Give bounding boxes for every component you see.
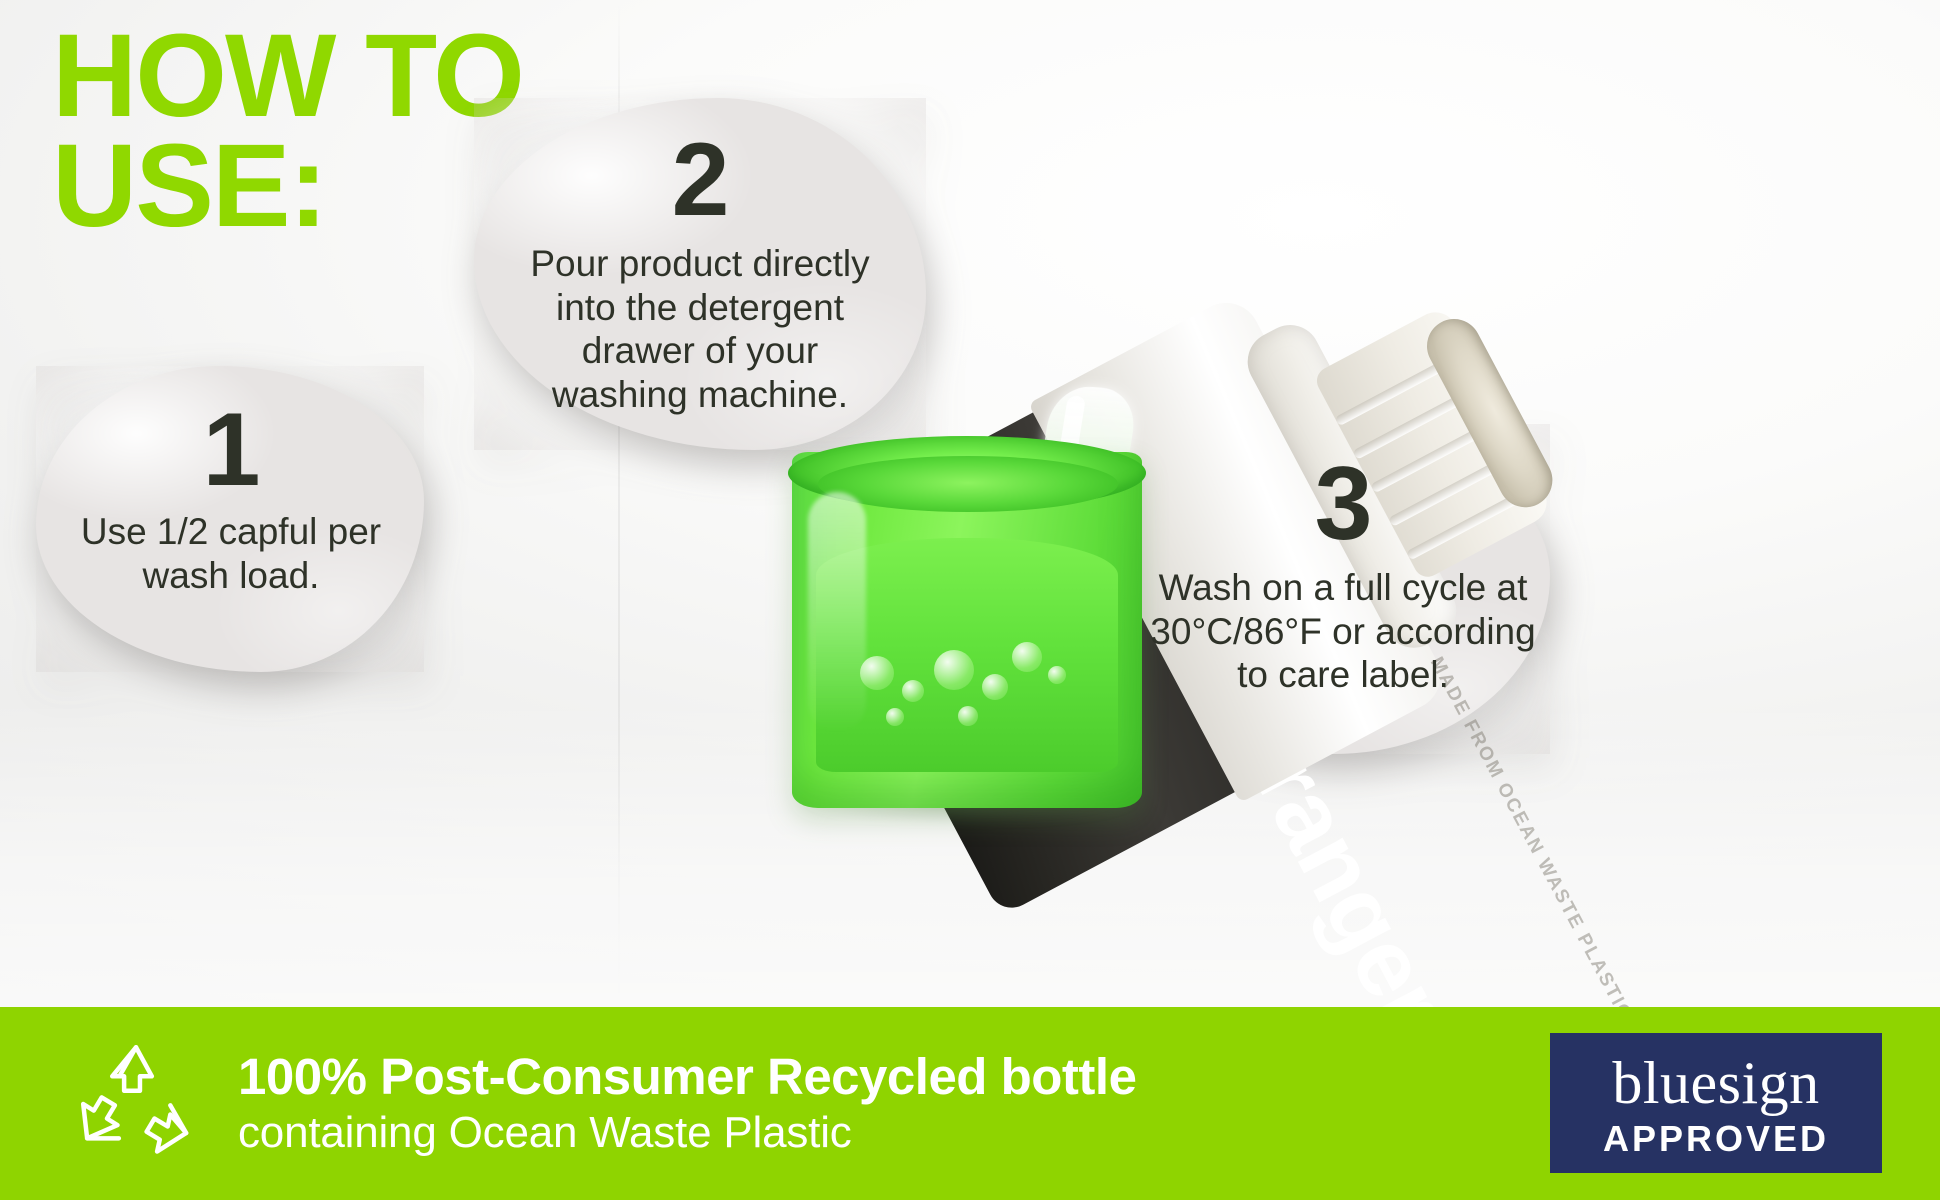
step-2-number: 2 xyxy=(500,128,900,232)
recycle-icon xyxy=(70,1038,202,1170)
infographic-canvas: HOW TO USE: Grangers MADE FROM OCEAN WAS… xyxy=(0,0,1940,1200)
sustainability-banner: 100% Post-Consumer Recycled bottle conta… xyxy=(0,1007,1940,1200)
banner-headline: 100% Post-Consumer Recycled bottle xyxy=(238,1049,1136,1104)
cap-inner-surface xyxy=(818,456,1118,512)
banner-text-block: 100% Post-Consumer Recycled bottle conta… xyxy=(238,1049,1136,1157)
bluesign-wordmark: bluesign xyxy=(1612,1053,1819,1113)
step-3-number: 3 xyxy=(1148,452,1538,556)
step-1-number: 1 xyxy=(46,398,416,502)
bluesign-approved-badge: bluesign APPROVED xyxy=(1550,1033,1882,1173)
cap-gloss-highlight xyxy=(808,492,866,732)
green-measuring-cap xyxy=(792,452,1142,808)
bluesign-approved-label: APPROVED xyxy=(1603,1121,1829,1157)
banner-subline: containing Ocean Waste Plastic xyxy=(238,1108,1136,1157)
page-title: HOW TO USE: xyxy=(52,22,523,241)
step-2-caption: Pour product directly into the detergent… xyxy=(500,242,900,417)
step-3: 3 Wash on a full cycle at 30°C/86°F or a… xyxy=(1148,452,1538,697)
bubble xyxy=(934,650,974,690)
bubble xyxy=(1048,666,1066,684)
step-3-caption: Wash on a full cycle at 30°C/86°F or acc… xyxy=(1148,566,1538,697)
bubble xyxy=(982,674,1008,700)
step-2: 2 Pour product directly into the deterge… xyxy=(500,128,900,417)
step-1-caption: Use 1/2 capful per wash load. xyxy=(46,510,416,597)
step-1: 1 Use 1/2 capful per wash load. xyxy=(46,398,416,597)
bubble xyxy=(886,708,904,726)
bubble xyxy=(1012,642,1042,672)
bubble xyxy=(902,680,924,702)
bubble xyxy=(958,706,978,726)
